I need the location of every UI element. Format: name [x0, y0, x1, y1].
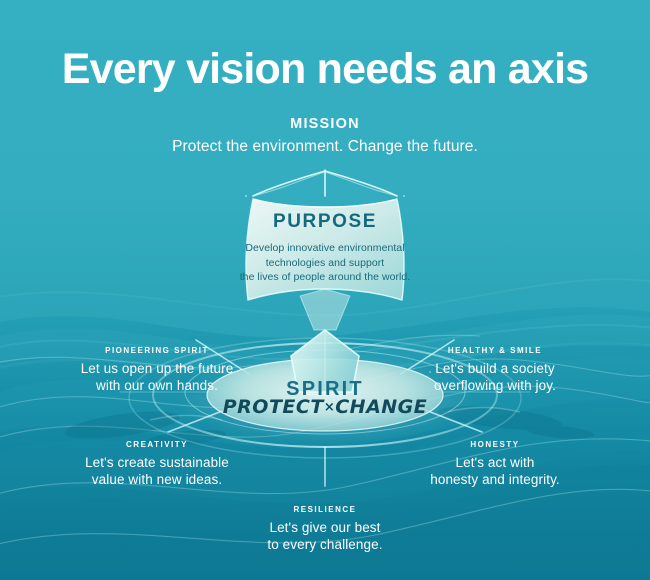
value-callout-pioneering-spirit: PIONEERING SPIRIT Let us open up the fut… [62, 346, 252, 394]
spirit-tagline-right: CHANGE [335, 396, 427, 418]
mission-kicker: MISSION [0, 116, 650, 132]
spirit-tagline-left: PROTECT [223, 396, 324, 418]
value-text: Let's give our best to every challenge. [230, 519, 420, 553]
spirit-tagline: PROTECT×CHANGE [0, 396, 650, 418]
value-text-line-1: Let us open up the future [62, 360, 252, 377]
value-text-line-1: Let's act with [400, 454, 590, 471]
purpose-body-line-2: technologies and support [0, 256, 650, 271]
value-kicker: RESILIENCE [230, 505, 420, 514]
value-text-line-1: Let's build a society [400, 360, 590, 377]
multiply-icon: × [324, 400, 335, 415]
value-text-line-1: Let's create sustainable [62, 454, 252, 471]
value-callout-healthy-and-smile: HEALTHY & SMILE Let's build a society ov… [400, 346, 590, 394]
value-text: Let's build a society overflowing with j… [400, 360, 590, 394]
value-kicker: PIONEERING SPIRIT [62, 346, 252, 355]
value-text-line-2: with our own hands. [62, 377, 252, 394]
value-callout-resilience: RESILIENCE Let's give our best to every … [230, 505, 420, 553]
purpose-body-line-1: Develop innovative environmental [0, 241, 650, 256]
value-text-line-2: overflowing with joy. [400, 377, 590, 394]
value-text-line-2: honesty and integrity. [400, 471, 590, 488]
page-title: Every vision needs an axis [0, 48, 650, 91]
value-text-line-2: value with new ideas. [62, 471, 252, 488]
value-kicker: HEALTHY & SMILE [400, 346, 590, 355]
value-text-line-2: to every challenge. [230, 536, 420, 553]
purpose-body-line-3: the lives of people around the world. [0, 270, 650, 285]
value-text: Let us open up the future with our own h… [62, 360, 252, 394]
value-kicker: HONESTY [400, 440, 590, 449]
value-kicker: CREATIVITY [62, 440, 252, 449]
value-text: Let's create sustainable value with new … [62, 454, 252, 488]
mission-statement: Protect the environment. Change the futu… [0, 138, 650, 156]
purpose-body: Develop innovative environmental technol… [0, 241, 650, 285]
value-text-line-1: Let's give our best [230, 519, 420, 536]
value-text: Let's act with honesty and integrity. [400, 454, 590, 488]
value-callout-creativity: CREATIVITY Let's create sustainable valu… [62, 440, 252, 488]
purpose-title: PURPOSE [0, 211, 650, 233]
value-callout-honesty: HONESTY Let's act with honesty and integ… [400, 440, 590, 488]
infographic-poster: Every vision needs an axis MISSION Prote… [0, 0, 650, 580]
